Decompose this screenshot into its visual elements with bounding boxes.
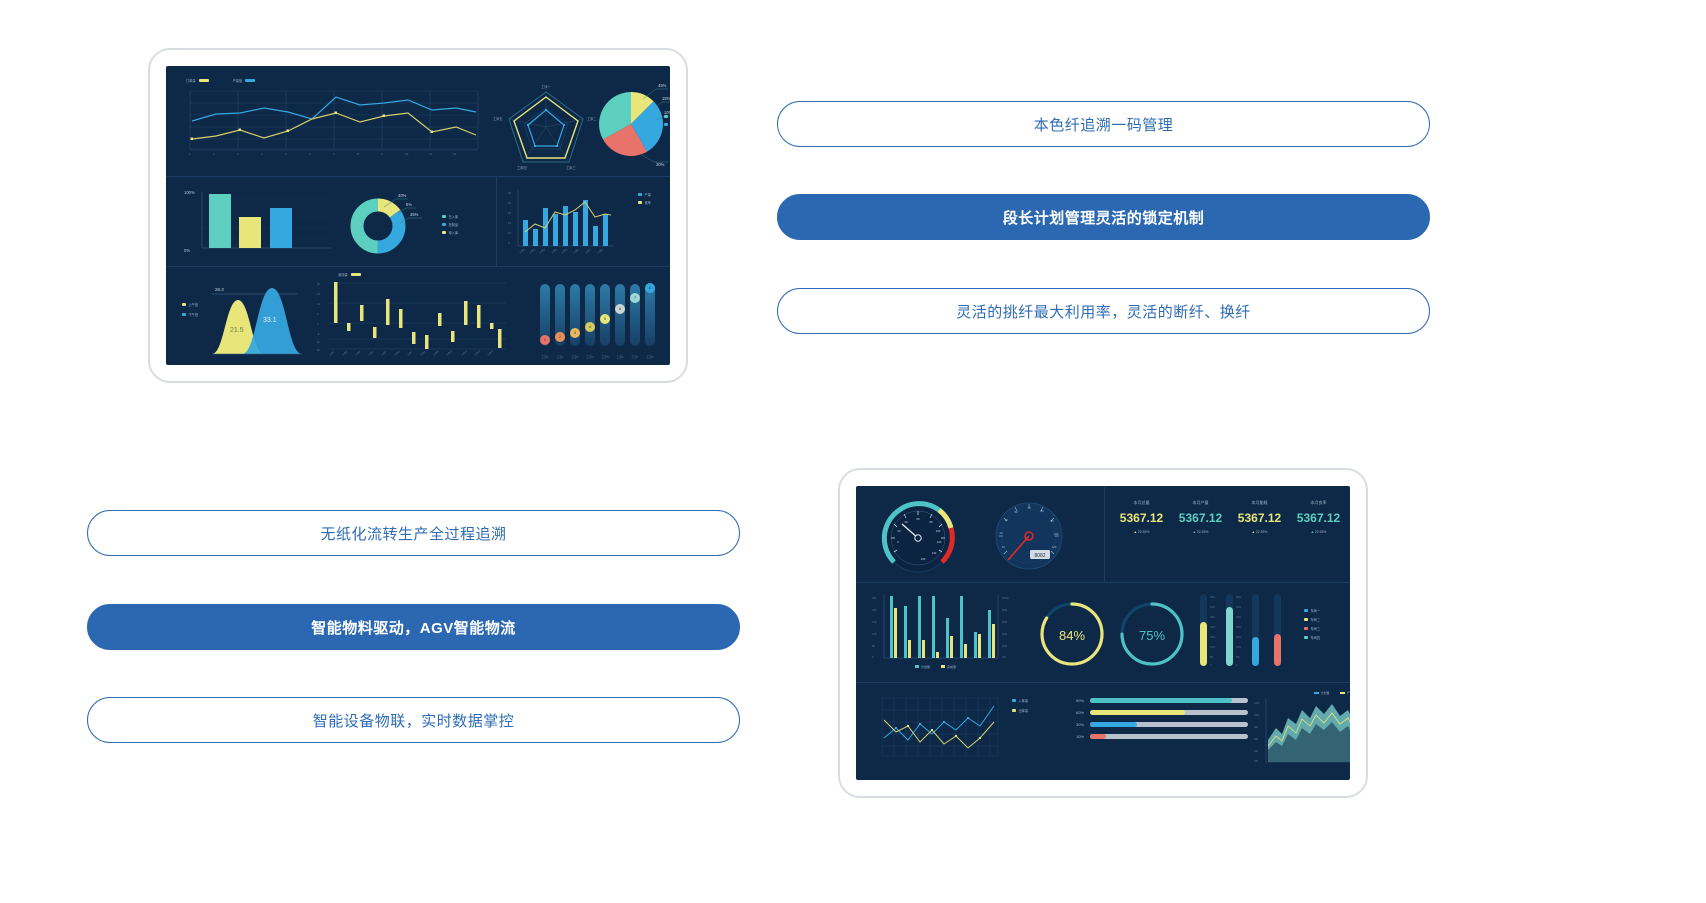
svg-text:80%: 80%: [1002, 608, 1008, 612]
svg-text:工序4: 工序4: [550, 247, 558, 255]
svg-text:7: 7: [634, 296, 636, 300]
radar-axis-label: 工序二: [587, 116, 597, 121]
legend-swatch: [199, 79, 209, 82]
legend-label: 计划量: [921, 664, 930, 669]
progress-row: 30%: [1068, 722, 1248, 727]
svg-text:工序3: 工序3: [571, 355, 579, 359]
tablet-device-top: 订单量 产量值: [148, 48, 688, 383]
svg-text:140: 140: [932, 551, 937, 555]
svg-text:1: 1: [544, 338, 546, 342]
legend-item: 一车间: [664, 114, 670, 119]
svg-text:40%: 40%: [1210, 606, 1216, 609]
svg-text:100: 100: [872, 632, 877, 636]
svg-text:工序7: 工序7: [406, 349, 414, 356]
dashboard-screen-production: 订单量 产量值: [166, 66, 670, 365]
thermometer-panel: 50%40% 30%25%20% 15%5%0 50%40% 30%25%20%…: [1196, 590, 1296, 678]
svg-text:5: 5: [317, 312, 319, 316]
svg-text:8082: 8082: [1034, 553, 1045, 559]
kpi-delta-value: 22.53%: [1256, 530, 1268, 534]
svg-text:1200: 1200: [1254, 702, 1260, 705]
trend-line-legend: 入库量 出库量: [1012, 698, 1028, 713]
odometer-gauge-panel: 507080 90100120 1403020 100 8082: [984, 496, 1074, 576]
legend-item: 产量值: [233, 78, 256, 83]
area-chart-svg: 计划量 产出量 12001000800 600400200: [1252, 688, 1350, 772]
svg-text:160: 160: [921, 557, 926, 561]
svg-text:3: 3: [574, 331, 576, 335]
legend-label: 订单量: [186, 78, 196, 83]
ring-gauge-svg: 75%: [1114, 596, 1190, 672]
svg-text:80: 80: [929, 520, 933, 524]
progress-bar-panel: 90% 60% 30% 10%: [1068, 698, 1248, 739]
svg-text:1000: 1000: [1254, 714, 1260, 717]
radar-chart-panel: 工序一 工序二 工序三 工序四 工序五: [492, 80, 600, 172]
progress-fill: [1090, 722, 1137, 727]
svg-text:100: 100: [936, 529, 941, 533]
area-chart-panel: 计划量 产出量 12001000800 600400200: [1252, 688, 1350, 772]
legend-label: 待入库: [449, 230, 459, 235]
svg-text:3: 3: [237, 152, 239, 156]
thermometer-svg: 50%40% 30%25%20% 15%5%0 50%40% 30%25%20%…: [1196, 590, 1296, 678]
kpi-delta-value: 22.53%: [1315, 530, 1327, 534]
panel-divider: [166, 176, 670, 177]
legend-label: 波动量: [338, 272, 348, 277]
svg-text:工序4: 工序4: [367, 349, 375, 356]
trend-line-panel: [876, 692, 1006, 772]
svg-text:0: 0: [317, 322, 319, 326]
svg-text:2: 2: [213, 152, 215, 156]
kpi-value: 5367.12: [1289, 511, 1348, 525]
bell-peak-label: 28.3: [215, 287, 224, 292]
svg-text:5%: 5%: [1236, 656, 1240, 659]
svg-text:工序1: 工序1: [328, 349, 336, 356]
legend-label: 计划量: [1321, 691, 1330, 695]
trend-line-svg: [876, 692, 1006, 772]
progress-label: 30%: [1068, 722, 1084, 727]
svg-text:20: 20: [317, 282, 320, 286]
kpi-label: 本月能耗: [1230, 500, 1289, 506]
svg-text:工序5: 工序5: [560, 247, 568, 255]
grouped-bar-svg: 250200150 100500 100%80%60% 40%20%0%: [870, 590, 1018, 678]
kpi-label: 本月产量: [1171, 500, 1230, 506]
svg-text:40%: 40%: [1236, 606, 1242, 609]
svg-text:工序8: 工序8: [419, 349, 427, 356]
feature-pill-active[interactable]: 智能物料驱动，AGV智能物流: [87, 604, 740, 650]
ring-gauge-75: 75%: [1114, 596, 1190, 672]
donut-chart-panel: 40% 5% 35%: [346, 186, 446, 260]
tablet-device-bottom: 6080100 120140160 40200 507080 90100120 …: [838, 468, 1368, 798]
trend-up-icon: ▲: [1193, 530, 1196, 534]
svg-text:0: 0: [1236, 664, 1238, 667]
pie-label: 30%: [656, 162, 665, 167]
svg-text:15%: 15%: [1210, 646, 1216, 649]
pie-label: 15%: [662, 96, 670, 101]
ring-gauge-svg: 84%: [1034, 596, 1110, 672]
svg-text:25%: 25%: [1210, 626, 1216, 629]
progress-track: [1090, 698, 1248, 703]
svg-text:工序2: 工序2: [556, 355, 564, 359]
svg-text:400: 400: [1254, 750, 1259, 753]
svg-text:5: 5: [508, 241, 510, 245]
svg-text:800: 800: [1254, 726, 1259, 729]
progress-row: 10%: [1068, 734, 1248, 739]
feature-pill-outline[interactable]: 本色纤追溯一码管理: [777, 101, 1430, 147]
svg-text:工序6: 工序6: [616, 355, 624, 359]
axis-label-max: 100%: [184, 190, 195, 195]
kpi-delta-value: 22.53%: [1197, 530, 1209, 534]
kpi-label: 本月良率: [1289, 500, 1348, 506]
legend-label: 车间四: [1311, 635, 1321, 640]
legend-item: 订单量: [186, 78, 209, 83]
kpi-delta: ▲ 22.53%: [1289, 530, 1348, 534]
progress-track: [1090, 734, 1248, 739]
legend-swatch: [245, 79, 255, 82]
svg-text:工序7: 工序7: [584, 247, 592, 255]
donut-label: 35%: [410, 212, 419, 217]
bar-chart-panel: 100% 0%: [182, 184, 342, 260]
pie-chart-panel: 45% 15% 10% 30%: [598, 76, 670, 172]
donut-label: 5%: [406, 202, 412, 207]
svg-text:20%: 20%: [1236, 636, 1242, 639]
svg-text:8: 8: [649, 286, 651, 290]
legend-item: 产量: [638, 192, 651, 197]
radar-axis-label: 工序五: [493, 116, 503, 121]
svg-text:5: 5: [604, 317, 606, 321]
svg-text:30%: 30%: [1210, 616, 1216, 619]
svg-text:250: 250: [872, 596, 877, 600]
svg-text:25%: 25%: [1236, 626, 1242, 629]
svg-text:40%: 40%: [1002, 632, 1008, 636]
svg-text:50%: 50%: [1210, 596, 1216, 599]
ring-gauge-value: 75%: [1139, 628, 1165, 643]
svg-text:工序12: 工序12: [473, 348, 482, 356]
dashboard-screen-equipment: 6080100 120140160 40200 507080 90100120 …: [856, 486, 1350, 780]
svg-text:6: 6: [309, 152, 311, 156]
donut-legend: 已入库 在制品 待入库: [442, 214, 458, 235]
donut-chart-svg: 40% 5% 35%: [346, 186, 446, 260]
kpi-value: 5367.12: [1112, 511, 1171, 525]
svg-text:15: 15: [317, 292, 320, 296]
svg-text:120: 120: [937, 540, 942, 544]
waterfall-chart-panel: 波动量 201510 50-5 -10-20: [316, 272, 516, 364]
svg-text:工序13: 工序13: [486, 348, 495, 356]
kpi-delta-value: 22.53%: [1138, 530, 1150, 534]
svg-text:工序6: 工序6: [572, 247, 580, 255]
progress-label: 10%: [1068, 734, 1084, 739]
svg-text:20: 20: [897, 529, 901, 533]
svg-text:工序9: 工序9: [432, 349, 440, 356]
svg-text:6: 6: [619, 307, 621, 311]
radar-axis-label: 工序一: [541, 84, 551, 89]
waterfall-chart-svg: 201510 50-5 -10-20: [316, 277, 516, 357]
svg-text:10: 10: [317, 302, 320, 306]
legend-label: 下午班: [189, 312, 199, 317]
svg-text:工序5: 工序5: [601, 355, 609, 359]
legend-item: 车间三: [1304, 626, 1320, 631]
legend-item: 上午班: [182, 302, 198, 307]
svg-text:15%: 15%: [1236, 646, 1242, 649]
panel-divider: [1104, 486, 1105, 582]
feature-pill-outline[interactable]: 无纸化流转生产全过程追溯: [87, 510, 740, 556]
svg-text:120: 120: [1052, 545, 1057, 549]
svg-text:20: 20: [508, 211, 511, 215]
ring-gauge-84: 84%: [1034, 596, 1110, 672]
legend-item: 出库量: [1012, 708, 1028, 713]
legend-label: 出库量: [1019, 708, 1029, 713]
svg-text:10: 10: [508, 231, 511, 235]
trend-up-icon: ▲: [1252, 530, 1255, 534]
svg-text:10: 10: [1001, 545, 1005, 549]
svg-text:工序2: 工序2: [528, 247, 536, 255]
mixed-chart-legend: 产量 良率: [638, 192, 651, 205]
svg-text:工序8: 工序8: [646, 355, 654, 359]
mixed-chart-panel: 403020 15105 工序1 工序2 工序3 工序4: [506, 184, 636, 262]
legend-item: 车间四: [1304, 635, 1320, 640]
svg-text:40: 40: [904, 520, 908, 524]
kpi-delta: ▲ 22.53%: [1230, 530, 1289, 534]
legend-label: 完成量: [947, 664, 956, 669]
grouped-bar-panel: 250200150 100500 100%80%60% 40%20%0%: [870, 590, 1018, 678]
legend-label: 上午班: [189, 302, 199, 307]
progress-fill: [1090, 710, 1185, 715]
legend-item: 良率: [638, 200, 651, 205]
bar-chart-svg: 100% 0%: [182, 184, 342, 260]
svg-text:30: 30: [508, 201, 511, 205]
svg-text:4: 4: [261, 152, 263, 156]
svg-text:工序4: 工序4: [586, 355, 594, 359]
line-chart-panel: 订单量 产量值: [180, 78, 485, 170]
progress-fill: [1090, 698, 1232, 703]
svg-text:60: 60: [916, 517, 920, 521]
svg-text:80: 80: [1040, 509, 1044, 513]
legend-item: 已入库: [442, 214, 458, 219]
legend-label: 良率: [645, 200, 651, 205]
svg-text:8: 8: [357, 152, 359, 156]
svg-text:1: 1: [189, 152, 191, 156]
ranking-chart-svg: 123 456 78 工序1工序2工序3 工序4工序5工序6 工序7工序8: [532, 272, 662, 362]
legend-item: 车间一: [1304, 608, 1320, 613]
kpi-label: 本月总量: [1112, 500, 1171, 506]
ring-gauge-value: 84%: [1059, 628, 1085, 643]
bell-curve-svg: 28.3 21.5 33.1: [180, 270, 304, 362]
panel-divider: [166, 266, 670, 267]
axis-label-min: 0%: [184, 248, 190, 253]
svg-text:7: 7: [333, 152, 335, 156]
progress-row: 60%: [1068, 710, 1248, 715]
kpi-value: 5367.12: [1171, 511, 1230, 525]
legend-label: 产出量: [1347, 691, 1350, 695]
legend-label: 车间一: [1311, 608, 1321, 613]
svg-text:工序1: 工序1: [518, 247, 526, 255]
progress-fill: [1090, 734, 1106, 739]
legend-item: 下午班: [182, 312, 198, 317]
pie-legend: 一车间 二车间 三车间 四车间: [664, 114, 670, 127]
progress-label: 90%: [1068, 698, 1084, 703]
svg-text:15: 15: [508, 221, 511, 225]
feature-pill-active[interactable]: 段长计划管理灵活的锁定机制: [777, 194, 1430, 240]
donut-label: 40%: [398, 193, 407, 198]
legend-label: 在制品: [449, 222, 459, 227]
progress-row: 90%: [1068, 698, 1248, 703]
legend-label: 车间二: [1311, 617, 1321, 622]
legend-item: 入库量: [1012, 698, 1028, 703]
thermometer-legend: 车间一 车间二 车间三 车间四: [1304, 608, 1320, 640]
kpi-card: 本月良率 5367.12 ▲ 22.53%: [1289, 500, 1348, 572]
svg-text:工序2: 工序2: [341, 349, 349, 356]
svg-text:20%: 20%: [1002, 644, 1008, 648]
svg-text:工序1: 工序1: [541, 355, 549, 359]
kpi-row: 本月总量 5367.12 ▲ 22.53% 本月产量 5367.12 ▲ 22.…: [1112, 500, 1348, 572]
trend-up-icon: ▲: [1134, 530, 1137, 534]
svg-text:工序5: 工序5: [380, 349, 388, 356]
pie-chart-svg: 45% 15% 10% 30%: [598, 76, 670, 172]
legend-label: 车间三: [1311, 626, 1321, 631]
svg-text:200: 200: [1254, 760, 1259, 763]
svg-text:-10: -10: [316, 340, 320, 344]
legend-item: 待入库: [442, 230, 458, 235]
bell-curve-legend: 上午班 下午班: [182, 302, 198, 317]
progress-track: [1090, 722, 1248, 727]
speed-gauge-svg: 6080100 120140160 40200: [876, 494, 986, 578]
panel-divider: [856, 682, 1350, 683]
svg-text:5: 5: [285, 152, 287, 156]
legend-label: 已入库: [449, 214, 459, 219]
svg-text:100%: 100%: [1002, 596, 1009, 600]
legend-label: 产量: [645, 192, 651, 197]
line-chart-svg: 123 456 789 101112: [180, 83, 485, 157]
speed-gauge-panel: 6080100 120140160 40200: [876, 494, 986, 578]
panel-divider: [496, 176, 497, 266]
bell-value: 21.5: [230, 327, 244, 334]
svg-text:20: 20: [999, 531, 1003, 535]
svg-text:60%: 60%: [1002, 620, 1008, 624]
pie-label: 45%: [658, 83, 667, 88]
svg-text:50%: 50%: [1236, 596, 1242, 599]
svg-text:工序10: 工序10: [445, 348, 454, 356]
radar-axis-label: 工序四: [517, 165, 527, 170]
odometer-gauge-svg: 507080 90100120 1403020 100 8082: [984, 496, 1074, 576]
svg-text:工序7: 工序7: [631, 355, 639, 359]
svg-text:200: 200: [872, 608, 877, 612]
bell-curve-panel: 28.3 21.5 33.1: [180, 270, 304, 362]
progress-label: 60%: [1068, 710, 1084, 715]
svg-text:-20: -20: [316, 348, 320, 352]
svg-text:600: 600: [1254, 738, 1259, 741]
legend-item: 三车间: [664, 122, 670, 127]
kpi-card: 本月总量 5367.12 ▲ 22.53%: [1112, 500, 1171, 572]
kpi-delta: ▲ 22.53%: [1112, 530, 1171, 534]
panel-divider: [856, 582, 1350, 583]
trend-up-icon: ▲: [1311, 530, 1314, 534]
mixed-chart-svg: 403020 15105 工序1 工序2 工序3 工序4: [506, 184, 636, 262]
svg-text:100: 100: [1054, 532, 1059, 536]
feature-pill-outline[interactable]: 智能设备物联，实时数据掌控: [87, 697, 740, 743]
svg-text:0: 0: [872, 655, 874, 659]
svg-text:工序6: 工序6: [393, 349, 401, 356]
radar-axis-label: 工序三: [566, 165, 576, 170]
svg-text:20%: 20%: [1210, 636, 1216, 639]
svg-text:11: 11: [429, 152, 432, 156]
svg-text:12: 12: [453, 152, 457, 156]
svg-text:工序11: 工序11: [460, 349, 469, 357]
svg-text:工序8: 工序8: [596, 247, 604, 255]
kpi-card: 本月能耗 5367.12 ▲ 22.53%: [1230, 500, 1289, 572]
svg-text:0%: 0%: [1002, 655, 1006, 659]
svg-text:0: 0: [1210, 664, 1212, 667]
svg-text:-5: -5: [317, 332, 320, 336]
svg-text:40: 40: [508, 191, 511, 195]
svg-text:50: 50: [872, 644, 875, 648]
radar-chart-svg: 工序一 工序二 工序三 工序四 工序五: [492, 80, 600, 172]
svg-text:10: 10: [405, 152, 409, 156]
svg-text:9: 9: [381, 152, 383, 156]
kpi-value: 5367.12: [1230, 511, 1289, 525]
svg-text:150: 150: [872, 620, 877, 624]
ranking-chart-panel: 123 456 78 工序1工序2工序3 工序4工序5工序6 工序7工序8: [532, 272, 662, 362]
legend-label: 产量值: [233, 78, 243, 83]
legend-item: 车间二: [1304, 617, 1320, 622]
kpi-card: 本月产量 5367.12 ▲ 22.53%: [1171, 500, 1230, 572]
bell-value: 33.1: [263, 317, 277, 324]
feature-pill-outline[interactable]: 灵活的挑纤最大利用率，灵活的断纤、换纤: [777, 288, 1430, 334]
svg-text:4: 4: [589, 325, 591, 329]
progress-track: [1090, 710, 1248, 715]
legend-item: 在制品: [442, 222, 458, 227]
kpi-delta: ▲ 22.53%: [1171, 530, 1230, 534]
svg-text:30%: 30%: [1236, 616, 1242, 619]
svg-text:工序3: 工序3: [354, 349, 362, 356]
svg-text:工序3: 工序3: [538, 247, 546, 255]
svg-text:2: 2: [559, 335, 561, 339]
svg-text:5%: 5%: [1210, 656, 1214, 659]
svg-text:50: 50: [1014, 510, 1018, 514]
legend-label: 入库量: [1019, 698, 1029, 703]
